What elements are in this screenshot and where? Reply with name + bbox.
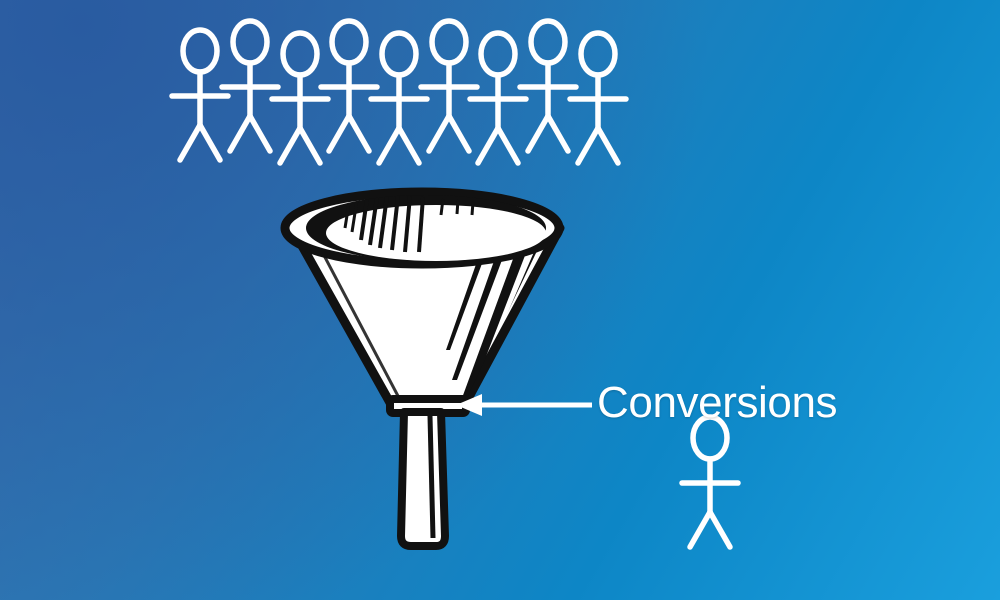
stick-figure [520, 21, 576, 151]
funnel-spout [401, 412, 445, 546]
stick-figure [321, 21, 377, 151]
conversions-arrow [456, 394, 592, 416]
funnel-bowl-surface [326, 205, 546, 261]
stick-figure [272, 33, 328, 163]
illustration-canvas: Conversions [0, 0, 1000, 600]
stick-figure [470, 33, 526, 163]
stick-figure [682, 417, 738, 547]
conversions-label: Conversions [597, 381, 837, 425]
converted-visitor-group [682, 417, 738, 547]
stick-figure [371, 33, 427, 163]
funnel [285, 192, 560, 546]
stick-figure [172, 30, 228, 160]
funnel-spout-shading [430, 416, 433, 538]
stick-figure [570, 33, 626, 163]
incoming-audience-group [172, 21, 626, 163]
stick-figure [421, 21, 477, 151]
stick-figure [222, 21, 278, 151]
funnel-illustration [0, 0, 1000, 600]
